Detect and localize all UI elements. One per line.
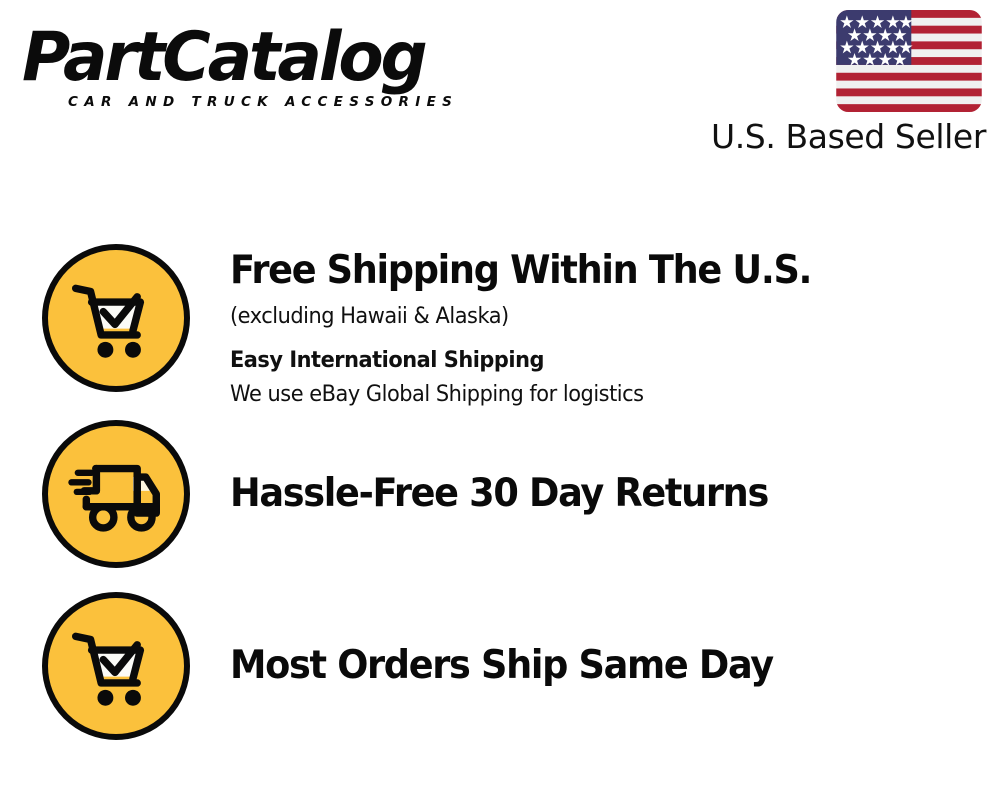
feature-text: Hassle-Free 30 Day Returns — [190, 471, 976, 517]
delivery-truck-icon — [42, 420, 190, 568]
feature-title: Most Orders Ship Same Day — [230, 643, 931, 689]
feature-row: Hassle-Free 30 Day Returns — [36, 420, 976, 568]
feature-row: Free Shipping Within The U.S. (excluding… — [36, 244, 976, 400]
feature-note: (excluding Hawaii & Alaska) — [230, 300, 939, 334]
feature-title: Hassle-Free 30 Day Returns — [230, 471, 931, 517]
cart-check-icon — [42, 244, 190, 392]
feature-text: Free Shipping Within The U.S. (excluding… — [190, 244, 976, 412]
cart-check-icon — [42, 592, 190, 740]
brand-wordmark: PartCatalog — [22, 22, 425, 94]
us-based-seller-label: U.S. Based Seller — [711, 118, 986, 156]
feature-sub-text: We use eBay Global Shipping for logistic… — [230, 378, 939, 412]
feature-sub-heading: Easy International Shipping — [230, 344, 939, 378]
feature-title: Free Shipping Within The U.S. — [230, 248, 931, 294]
brand-logo: PartCatalog CAR AND TRUCK ACCESSORIES — [22, 22, 502, 117]
feature-text: Most Orders Ship Same Day — [190, 643, 976, 689]
feature-row: Most Orders Ship Same Day — [36, 592, 976, 740]
brand-tagline: CAR AND TRUCK ACCESSORIES — [68, 94, 458, 110]
us-flag-icon — [836, 10, 982, 112]
